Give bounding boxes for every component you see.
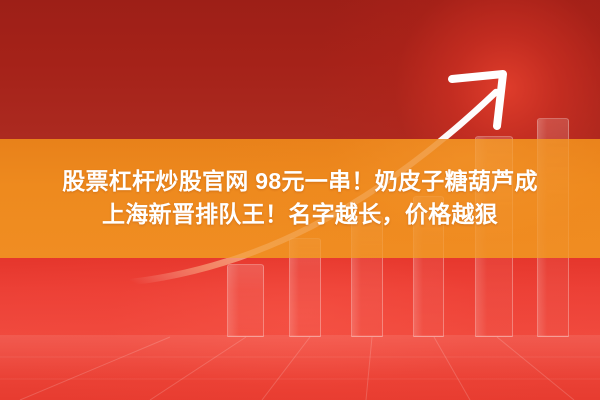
headline-block: 股票杠杆炒股官网 98元一串！奶皮子糖葫芦成 上海新晋排队王！名字越长，价格越狠: [0, 139, 600, 258]
banner-image: 股票杠杆炒股官网 98元一串！奶皮子糖葫芦成 上海新晋排队王！名字越长，价格越狠: [0, 0, 600, 400]
headline-line-2: 上海新晋排队王！名字越长，价格越狠: [102, 203, 498, 227]
headline-line-1: 股票杠杆炒股官网 98元一串！奶皮子糖葫芦成: [62, 170, 538, 194]
chart-bar: [227, 264, 264, 337]
